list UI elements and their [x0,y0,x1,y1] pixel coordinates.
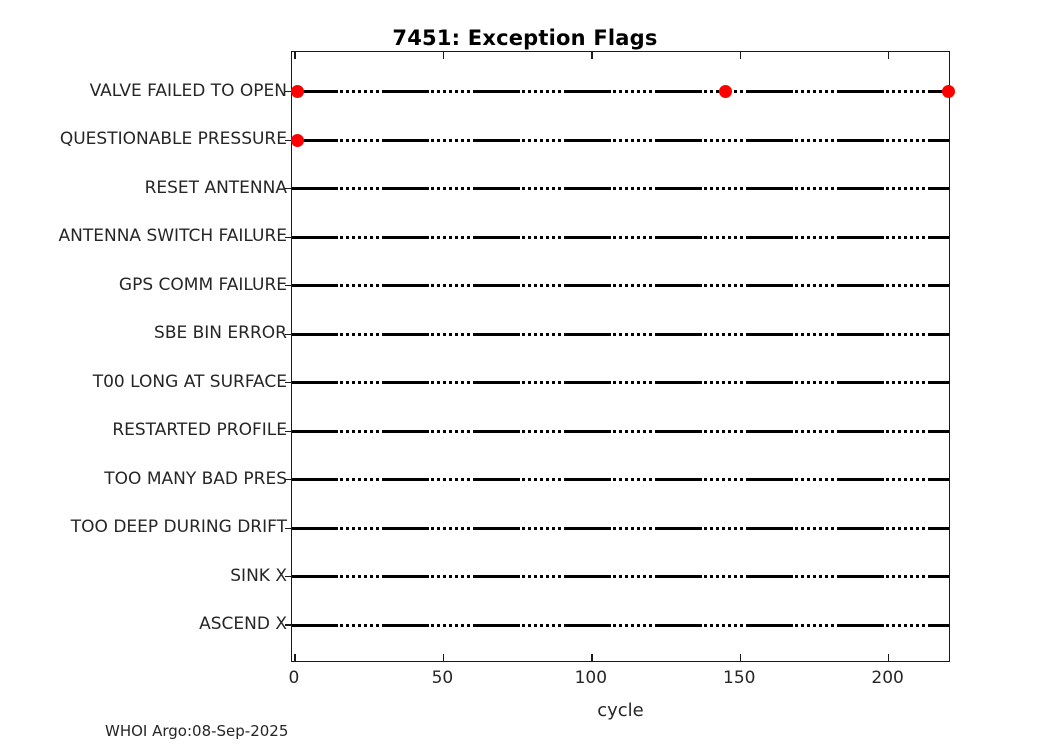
y-axis-tick-label: TOO DEEP DURING DRIFT [0,517,287,537]
x-axis-tick [888,654,889,661]
y-axis-tick-label: RESET ANTENNA [0,178,287,198]
x-axis-tick [294,654,295,661]
y-axis-tick-label: QUESTIONABLE PRESSURE [0,129,287,149]
y-axis-tick [285,624,292,625]
x-axis-tick [443,654,444,661]
x-axis-tick-label: 150 [699,668,779,688]
data-point-marker [291,85,304,98]
y-axis-tick-label: SINK X [0,566,287,586]
y-axis-labels: VALVE FAILED TO OPENQUESTIONABLE PRESSUR… [0,51,287,662]
y-axis-tick [285,334,292,335]
y-axis-tick-label: T00 LONG AT SURFACE [0,372,287,392]
y-axis-tick-label: VALVE FAILED TO OPEN [0,81,287,101]
x-axis-tick-top [888,52,889,59]
flag-row [292,624,949,627]
y-axis-tick [285,576,292,577]
flag-row [292,575,949,578]
y-axis-tick-label: GPS COMM FAILURE [0,275,287,295]
data-point-marker [942,85,955,98]
y-axis-tick [285,237,292,238]
x-axis-tick [740,654,741,661]
flag-row [292,90,949,93]
x-axis-tick-labels: 050100150200 [291,668,950,694]
flag-row [292,333,949,336]
y-axis-tick [285,285,292,286]
page-title: 7451: Exception Flags [0,26,1050,50]
flag-row [292,478,949,481]
plot-area [291,51,950,662]
flag-row [292,139,949,142]
y-axis-tick [285,188,292,189]
data-point-marker [719,85,732,98]
x-axis-tick-top [591,52,592,59]
y-axis-tick [285,431,292,432]
y-axis-tick [285,479,292,480]
x-axis-tick-label: 50 [402,668,482,688]
y-axis-tick [285,382,292,383]
flag-row [292,284,949,287]
x-axis-tick-top [443,52,444,59]
flag-row [292,430,949,433]
x-axis-tick-label: 200 [848,668,928,688]
data-point-marker [291,134,304,147]
plot-inner [292,52,949,661]
footer-note: WHOI Argo:08-Sep-2025 [105,722,288,740]
flag-row [292,187,949,190]
y-axis-tick-label: SBE BIN ERROR [0,323,287,343]
y-axis-tick-label: ANTENNA SWITCH FAILURE [0,226,287,246]
x-axis-tick-top [294,52,295,59]
y-axis-tick-label: RESTARTED PROFILE [0,420,287,440]
flag-row [292,381,949,384]
flag-row [292,527,949,530]
flag-row [292,236,949,239]
y-axis-tick [285,528,292,529]
x-axis-tick-label: 0 [254,668,334,688]
x-axis-title: cycle [291,700,950,721]
y-axis-tick-label: ASCEND X [0,614,287,634]
x-axis-tick-label: 100 [551,668,631,688]
x-axis-tick [591,654,592,661]
y-axis-tick-label: TOO MANY BAD PRES [0,469,287,489]
x-axis-tick-top [740,52,741,59]
